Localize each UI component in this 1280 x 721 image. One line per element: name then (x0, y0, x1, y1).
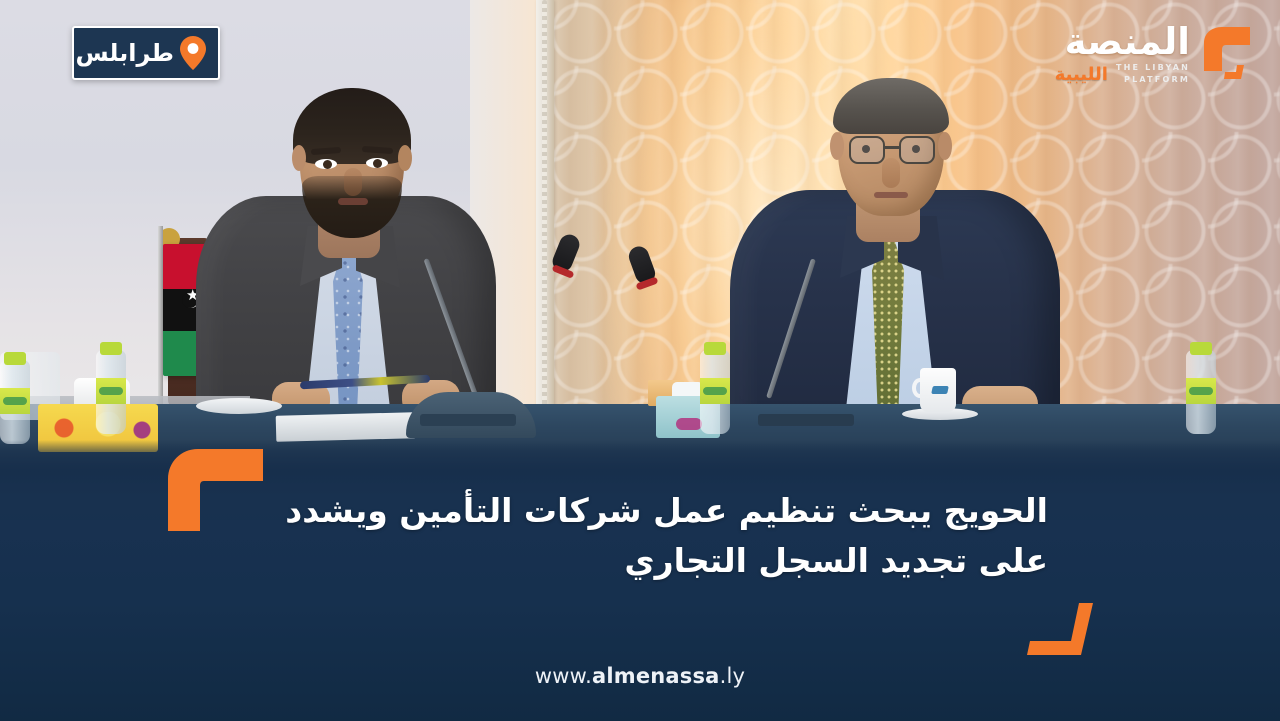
orange-angle-accent-icon (1027, 603, 1093, 655)
bottle-label (700, 378, 730, 404)
brand-name-english-line2: PLATFORM (1116, 75, 1190, 84)
papers (276, 412, 417, 442)
mouth (338, 198, 368, 205)
url-brand: almenassa (592, 664, 720, 688)
eyeglasses-lens-left (849, 136, 885, 164)
map-pin-icon (180, 36, 206, 70)
bottle-label (96, 378, 126, 404)
brand-name-arabic: المنصة (1055, 24, 1190, 59)
site-url[interactable]: www.almenassa.ly (0, 664, 1280, 688)
bottle-label (0, 388, 30, 414)
brand-mark-icon (1196, 23, 1258, 85)
nose (344, 168, 362, 196)
url-prefix: www. (535, 664, 592, 688)
ear-right (938, 132, 952, 160)
mouth (874, 192, 908, 198)
nose (882, 158, 900, 188)
ear-right (398, 145, 412, 171)
blind-chain (542, 0, 547, 450)
bottle-cap (100, 342, 122, 355)
news-card: ★ (0, 0, 1280, 721)
pupil-left (323, 160, 332, 169)
brand-logo[interactable]: المنصة THE LIBYAN PLATFORM الليبية (1038, 14, 1258, 94)
brand-name-english-line1: THE LIBYAN (1116, 63, 1190, 72)
eyeglasses-bridge (884, 146, 900, 149)
eyeglasses-lens-right (899, 136, 935, 164)
location-badge[interactable]: طرابلس (72, 26, 220, 80)
pupil-right (373, 159, 382, 168)
ear-left (292, 145, 306, 171)
microphone-nameplate (420, 414, 516, 426)
bottle-cap (4, 352, 26, 365)
ear-left (830, 132, 844, 160)
url-suffix: .ly (720, 664, 746, 688)
headline: الحويج يبحث تنظيم عمل شركات التأمين ويشد… (218, 486, 1048, 586)
microphone-nameplate (758, 414, 854, 426)
brand-subtitle-arabic: الليبية (1055, 66, 1108, 84)
location-badge-label: طرابلس (76, 41, 175, 65)
bottle-label (1186, 378, 1216, 404)
plate (196, 398, 282, 414)
tissue-box-badge (676, 418, 702, 430)
bottle-cap (1190, 342, 1212, 355)
brand-logo-text: المنصة THE LIBYAN PLATFORM الليبية (1055, 24, 1190, 83)
bottle-cap (704, 342, 726, 355)
cup-logo (931, 386, 949, 394)
